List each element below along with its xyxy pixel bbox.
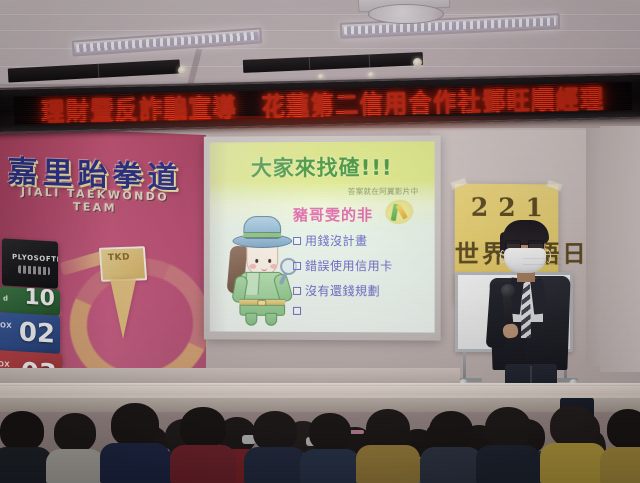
audience-child xyxy=(0,411,52,483)
plyo-box-green: d 10 xyxy=(0,286,60,316)
plyo-box-blue: OX 02 xyxy=(0,312,60,354)
checkbox-icon xyxy=(293,237,301,245)
taekwondo-banner: 嘉里跆拳道 JIALI TAEKWONDO TEAM xyxy=(0,140,200,218)
far-right-wall xyxy=(600,126,640,372)
audience-child xyxy=(540,405,606,483)
audience-of-students xyxy=(0,398,640,483)
mural-figure-label: TKD xyxy=(108,252,131,263)
audience-child xyxy=(300,413,360,483)
audience-child xyxy=(100,403,170,483)
slide-checklist-item xyxy=(293,307,426,316)
audience-child xyxy=(170,407,236,483)
ceiling-beam-right xyxy=(243,52,423,73)
slide-heading: 豬哥雯的非 xyxy=(293,204,426,225)
checkbox-icon xyxy=(293,261,301,269)
slide-content: 豬哥雯的非 用錢沒計畫 錯誤使用信用卡 沒有還錢規劃 xyxy=(293,204,426,324)
face-mask xyxy=(504,248,546,273)
checkbox-icon xyxy=(293,307,301,315)
audience-child xyxy=(476,407,540,483)
slide-checklist-item: 沒有還錢規劃 xyxy=(293,282,426,299)
ceiling-beam-left xyxy=(8,60,180,83)
audience-child xyxy=(420,411,482,483)
ac-diffuser xyxy=(368,4,444,24)
audience-child xyxy=(356,409,420,483)
audience-child xyxy=(46,413,104,483)
slide-checklist-item: 錯誤使用信用卡 xyxy=(293,257,426,274)
plyo-box-brand: d xyxy=(3,294,9,302)
presentation-slide: 大家來找碴!!! 答案就在阿翼影片中 xyxy=(210,141,435,332)
plyo-box-black: PLYOSOFTBOX xyxy=(2,238,58,288)
downlight xyxy=(368,72,374,78)
plyo-box-number: 02 xyxy=(19,317,55,349)
checkbox-icon xyxy=(293,286,301,294)
photo-scene: TKD 嘉里跆拳道 JIALI TAEKWONDO TEAM PLYOSOFTB… xyxy=(0,0,640,483)
audience-child xyxy=(600,409,640,483)
sprinkler-head xyxy=(178,66,187,75)
speaker-person xyxy=(487,218,579,410)
ceiling-light-left xyxy=(72,27,263,56)
projection-screen-surface: 大家來找碴!!! 答案就在阿翼影片中 xyxy=(210,141,435,332)
slide-checklist-label: 錯誤使用信用卡 xyxy=(305,257,393,274)
audience-child xyxy=(244,411,306,483)
mural-taekwondo-figure: TKD xyxy=(84,244,162,343)
detective-girl-illustration xyxy=(228,208,297,326)
plyo-box-brand: OX xyxy=(0,321,12,330)
slide-checklist-label: 用錢沒計畫 xyxy=(305,232,368,249)
plyo-box-number: 10 xyxy=(24,286,55,311)
sprinkler-head xyxy=(413,58,422,67)
slide-title: 大家來找碴!!! xyxy=(210,151,435,182)
projection-screen: 大家來找碴!!! 答案就在阿翼影片中 xyxy=(204,135,441,340)
slide-checklist-label: 沒有還錢規劃 xyxy=(305,282,380,299)
led-banner-text: 理財暨反詐騙宣導 花蓮第二信用合作社鄧旺順經理 xyxy=(41,82,605,125)
whiteboard-leg xyxy=(463,352,466,380)
slide-checklist-item: 用錢沒計畫 xyxy=(293,232,426,249)
downlight xyxy=(318,74,324,80)
slide-subtitle: 答案就在阿翼影片中 xyxy=(348,186,419,197)
